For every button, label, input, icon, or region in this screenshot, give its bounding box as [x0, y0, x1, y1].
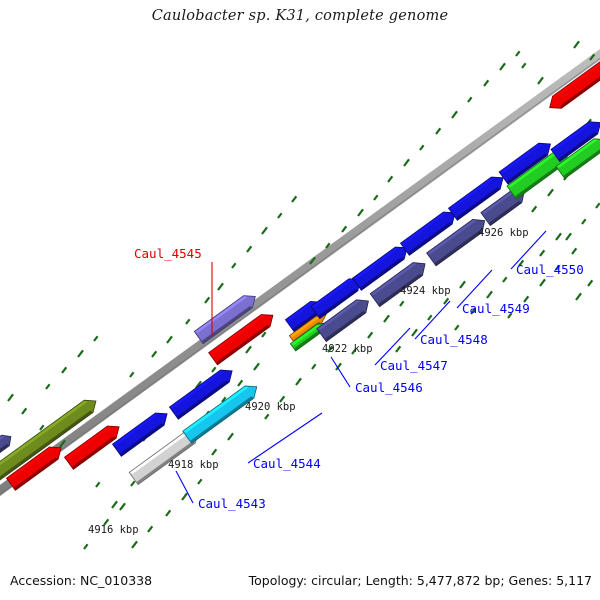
genome-tick-mark	[96, 482, 100, 487]
genome-tick-mark	[566, 233, 571, 240]
leader-line-Caul_4546	[331, 357, 350, 387]
genome-tick-mark	[130, 372, 134, 377]
genome-tick-mark	[400, 301, 404, 306]
genome-tick-mark	[368, 332, 372, 338]
genome-tick-mark	[292, 196, 296, 202]
genome-tick-mark	[238, 380, 242, 386]
genome-tick-mark	[516, 51, 520, 56]
axis-tick-label-3: 4922 kbp	[322, 343, 373, 355]
genome-summary-text: Topology: circular; Length: 5,477,872 bp…	[249, 573, 592, 588]
genome-tick-mark	[484, 80, 488, 86]
genome-tick-mark	[46, 384, 50, 389]
genome-tick-mark	[572, 248, 576, 254]
genome-tick-mark	[167, 336, 172, 343]
genome-tick-mark	[312, 364, 316, 369]
axis-tick-label-4: 4924 kbp	[400, 285, 451, 297]
genome-tick-mark	[212, 367, 216, 372]
genome-tick-mark	[540, 250, 544, 256]
genome-tick-mark	[232, 263, 236, 268]
genome-tick-mark	[78, 350, 83, 357]
genome-tick-mark	[468, 97, 472, 102]
gene-label-Caul_4544[interactable]: Caul_4544	[253, 456, 321, 471]
genome-tick-mark	[296, 378, 301, 385]
genome-tick-mark	[186, 319, 190, 324]
genome-tick-mark	[388, 176, 392, 182]
genome-tick-mark	[522, 63, 526, 68]
genome-tick-mark	[152, 351, 156, 357]
genome-tick-mark	[198, 479, 202, 484]
feature-olive-left[interactable]	[0, 395, 100, 481]
genome-tick-mark	[262, 227, 267, 234]
genome-tick-mark	[574, 41, 579, 48]
genome-tick-mark	[148, 526, 152, 532]
genome-tick-mark	[460, 281, 465, 288]
axis-tick-label-0: 4916 kbp	[88, 524, 139, 536]
genome-tick-mark	[596, 203, 600, 208]
genome-tick-mark	[94, 336, 98, 341]
genome-tick-mark	[84, 544, 88, 549]
genome-tick-mark	[500, 63, 505, 70]
genome-tick-mark	[556, 233, 561, 240]
genome-tick-mark	[342, 226, 346, 232]
gene-label-Caul_4543[interactable]: Caul_4543	[198, 496, 266, 511]
genome-tick-mark	[62, 367, 66, 373]
feature-slate-far-left[interactable]	[0, 431, 15, 454]
genome-tick-mark	[384, 315, 389, 322]
genome-tick-mark	[262, 332, 266, 337]
genome-tick-mark	[503, 277, 507, 282]
genome-tick-mark	[247, 246, 251, 252]
genome-tick-mark	[120, 503, 125, 510]
gene-label-Caul_4547[interactable]: Caul_4547	[380, 358, 448, 373]
genome-tick-mark	[428, 315, 432, 320]
genome-map-canvas: 4916 kbp4918 kbp4920 kbp4922 kbp4924 kbp…	[0, 0, 600, 600]
genome-tick-mark	[228, 433, 233, 440]
genome-tick-mark	[205, 297, 209, 303]
genome-tick-mark	[254, 363, 259, 370]
genome-tick-mark	[212, 449, 216, 455]
genome-tick-mark	[265, 414, 269, 419]
genome-tick-mark	[548, 189, 553, 196]
genome-tick-mark	[576, 293, 581, 300]
genome-tick-mark	[112, 501, 117, 508]
genome-tick-mark	[487, 291, 492, 298]
genome-tick-mark	[582, 219, 586, 224]
accession-text: Accession: NC_010338	[10, 573, 152, 588]
genome-tick-mark	[278, 213, 282, 218]
gene-label-Caul_4546[interactable]: Caul_4546	[355, 380, 423, 395]
genome-tick-mark	[436, 128, 440, 134]
genome-tick-mark	[132, 541, 137, 548]
genome-tick-mark	[8, 394, 13, 401]
gene-label-Caul_4550[interactable]: Caul_4550	[516, 262, 584, 277]
axis-tick-label-1: 4918 kbp	[168, 459, 219, 471]
genome-tick-mark	[420, 145, 424, 150]
genome-tick-mark	[452, 111, 457, 118]
genome-tick-mark	[532, 206, 536, 212]
genome-tick-mark	[374, 195, 378, 200]
axis-tick-label-2: 4920 kbp	[245, 401, 296, 413]
genome-tick-mark	[166, 510, 170, 516]
genome-map-view: Caulobacter sp. K31, complete genome 491…	[0, 0, 600, 600]
genome-tick-mark	[358, 209, 363, 216]
genome-tick-mark	[404, 159, 409, 166]
axis-tick-label-5: 4926 kbp	[478, 227, 529, 239]
genome-tick-mark	[246, 346, 251, 353]
genome-tick-mark	[22, 408, 26, 414]
genome-tick-mark	[218, 283, 223, 290]
genome-tick-mark	[182, 493, 187, 500]
genome-tick-mark	[40, 425, 44, 430]
gene-label-Caul_4548[interactable]: Caul_4548	[420, 332, 488, 347]
genome-tick-mark	[412, 329, 417, 336]
genome-tick-mark	[396, 346, 400, 352]
genome-tick-mark	[131, 481, 135, 486]
genome-tick-mark	[455, 325, 459, 330]
gene-label-Caul_4545[interactable]: Caul_4545	[134, 246, 202, 261]
genome-tick-mark	[538, 77, 543, 84]
genome-tick-mark	[588, 280, 592, 286]
genome-tick-mark	[540, 279, 545, 286]
gene-label-Caul_4549[interactable]: Caul_4549	[462, 301, 530, 316]
